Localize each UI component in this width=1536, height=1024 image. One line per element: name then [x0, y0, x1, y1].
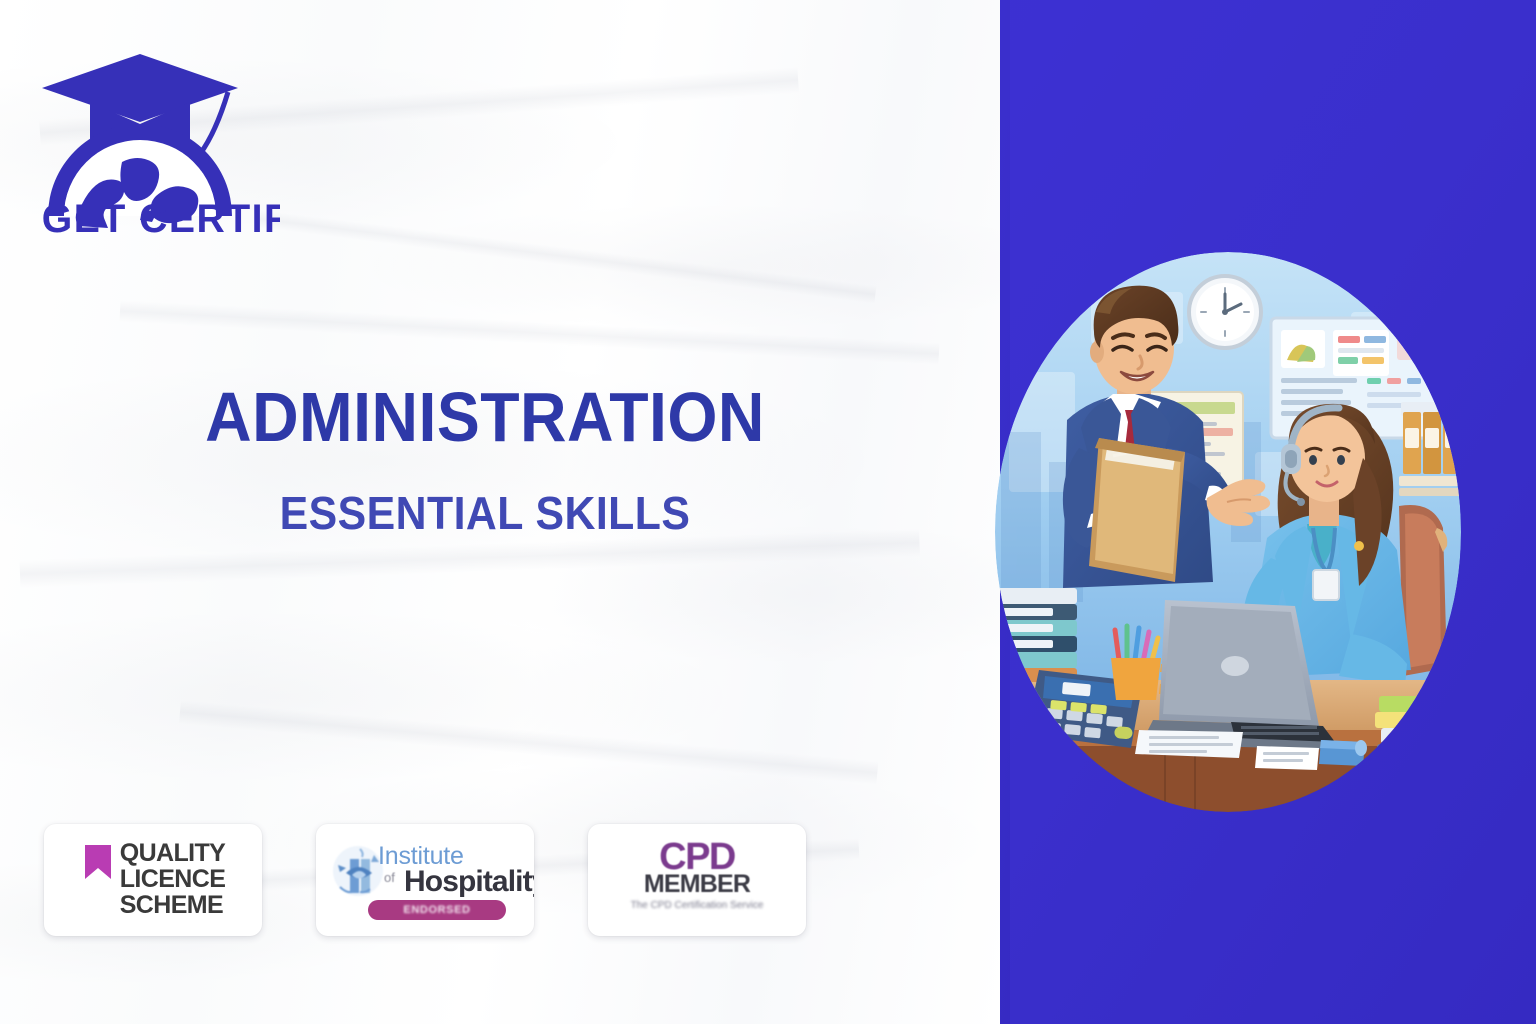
page-subtitle: ESSENTIAL SKILLS	[34, 489, 936, 537]
badge-ioh-endorsed-label: ENDORSED	[403, 904, 470, 916]
badge-cpd-member[interactable]: CPD MEMBER The CPD Certification Service	[588, 824, 806, 936]
office-administration-illustration	[995, 252, 1461, 812]
sticky-note-block	[1319, 740, 1367, 766]
document-folder	[1089, 438, 1185, 582]
badge-ioh-hospitality: Hospitality	[404, 867, 534, 897]
wall-clock	[1189, 276, 1261, 348]
page-title: ADMINISTRATION	[39, 382, 931, 453]
badge-quality-licence-scheme[interactable]: QUALITY LICENCE SCHEME	[44, 824, 262, 936]
badge-qls-line-3: SCHEME	[120, 893, 226, 919]
brand-logo[interactable]: GET CERTIFY	[30, 36, 280, 236]
badge-qls-text: QUALITY LICENCE SCHEME	[120, 841, 226, 918]
bookmark-ribbon-icon	[85, 845, 111, 879]
badge-ioh-endorsed-banner: ENDORSED	[368, 900, 506, 920]
badge-qls-line-2: LICENCE	[120, 867, 226, 893]
promo-banner-stage: GET CERTIFY ADMINISTRATION ESSENTIAL SKI…	[0, 0, 1536, 1024]
accreditation-badges: QUALITY LICENCE SCHEME	[44, 824, 806, 936]
institute-hospitality-mark-icon	[330, 843, 384, 899]
id-badge	[1313, 570, 1339, 600]
badge-qls-line-1: QUALITY	[120, 841, 226, 867]
brand-logo-text: GET CERTIFY	[42, 197, 280, 236]
badge-cpd-title: MEMBER	[588, 872, 806, 897]
badge-institute-of-hospitality[interactable]: Institute of Hospitality ENDORSED	[316, 824, 534, 936]
headline-block: ADMINISTRATION ESSENTIAL SKILLS	[0, 382, 970, 538]
badge-ioh-of: of	[384, 870, 395, 885]
badge-cpd-subtitle: The CPD Certification Service	[588, 900, 806, 913]
